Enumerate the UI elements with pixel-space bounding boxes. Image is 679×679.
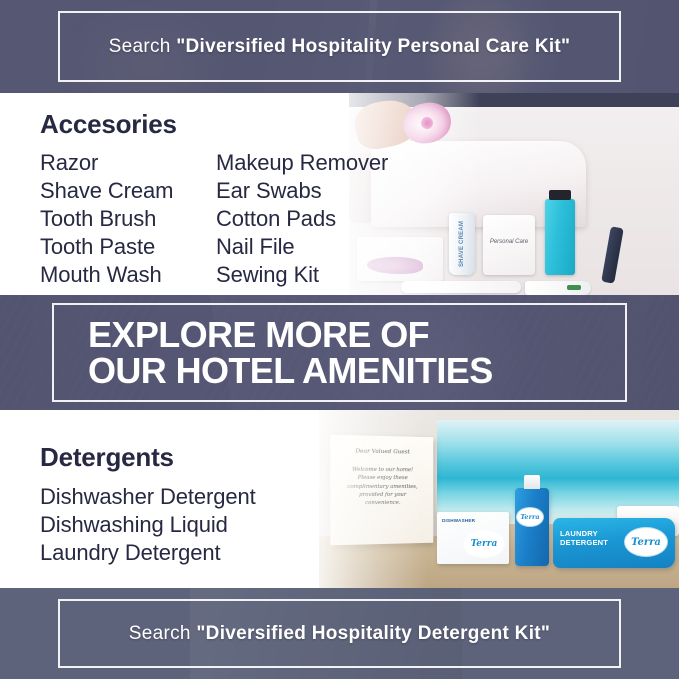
personal-care-kit-photo: [349, 93, 679, 295]
accessories-content: Accesories Razor Shave Cream Tooth Brush…: [0, 93, 388, 289]
guest-welcome-card: Dear Valued Guest Welcome to our home! P…: [330, 435, 433, 546]
headline-line-2: OUR HOTEL AMENITIES: [88, 353, 679, 388]
top-search-lead: Search: [109, 36, 177, 57]
card-line: complimentary amenities,: [337, 483, 426, 492]
terra-brand-logo: Terra: [464, 531, 504, 557]
dishwasher-detergent-packet: DISHWASHER Terra: [437, 512, 509, 564]
bottom-search-banner: Search "Diversified Hospitality Detergen…: [0, 588, 679, 679]
razor-product: [581, 221, 621, 283]
list-item: Dishwasher Detergent: [40, 483, 256, 511]
top-search-query: "Diversified Hospitality Personal Care K…: [176, 36, 570, 57]
laundry-label-line-2: DETERGENT: [560, 538, 608, 547]
laundry-label-line-1: LAUNDRY: [560, 529, 598, 538]
list-item: Makeup Remover: [216, 149, 388, 177]
top-search-text: Search "Diversified Hospitality Personal…: [109, 36, 571, 58]
terra-brand-logo: Terra: [625, 528, 667, 556]
list-item: Tooth Brush: [40, 205, 216, 233]
accessories-column-right: Makeup Remover Ear Swabs Cotton Pads Nai…: [216, 149, 388, 289]
detergents-content: Detergents Dishwasher Detergent Dishwash…: [0, 410, 256, 567]
mouthwash-bottle-product: [545, 199, 575, 275]
list-item: Shave Cream: [40, 177, 216, 205]
promo-image: Search "Diversified Hospitality Personal…: [0, 0, 679, 679]
dishwashing-liquid-bottle: Terra: [515, 488, 549, 566]
explore-more-banner: EXPLORE MORE OF OUR HOTEL AMENITIES: [0, 295, 679, 410]
detergent-kit-photo: Dear Valued Guest Welcome to our home! P…: [319, 410, 679, 588]
list-item: Cotton Pads: [216, 205, 388, 233]
card-line: convenience.: [337, 499, 426, 508]
list-item: Dishwashing Liquid: [40, 511, 256, 539]
terra-brand-logo: Terra: [517, 508, 543, 526]
toothpaste-tube-product: [525, 281, 591, 295]
card-line: Please enjoy these: [337, 474, 426, 483]
accessories-title: Accesories: [40, 109, 388, 140]
list-item: Laundry Detergent: [40, 539, 256, 567]
explore-more-headline: EXPLORE MORE OF OUR HOTEL AMENITIES: [0, 317, 679, 388]
list-item: Ear Swabs: [216, 177, 388, 205]
dishwasher-packet-label: DISHWASHER: [442, 518, 475, 523]
laundry-pouch-label: LAUNDRY DETERGENT: [560, 530, 608, 548]
card-salutation: Dear Valued Guest: [337, 447, 426, 458]
bottom-search-text: Search "Diversified Hospitality Detergen…: [129, 623, 550, 645]
bottom-search-lead: Search: [129, 623, 197, 644]
accessories-column-left: Razor Shave Cream Tooth Brush Tooth Past…: [40, 149, 216, 289]
accessories-columns: Razor Shave Cream Tooth Brush Tooth Past…: [40, 149, 388, 289]
list-item: Mouth Wash: [40, 261, 216, 289]
shave-cream-product: [449, 213, 475, 275]
list-item: Razor: [40, 149, 216, 177]
toothbrush-product: [401, 281, 521, 293]
detergents-title: Detergents: [40, 442, 256, 473]
list-item: Tooth Paste: [40, 233, 216, 261]
personal-care-soap-product: [483, 215, 535, 275]
top-search-banner: Search "Diversified Hospitality Personal…: [0, 0, 679, 93]
laundry-detergent-pouch: LAUNDRY DETERGENT Terra: [553, 518, 675, 568]
list-item: Nail File: [216, 233, 388, 261]
accessories-section: Accesories Razor Shave Cream Tooth Brush…: [0, 93, 679, 295]
list-item: Sewing Kit: [216, 261, 388, 289]
detergents-section: Dear Valued Guest Welcome to our home! P…: [0, 410, 679, 588]
bottom-search-query: "Diversified Hospitality Detergent Kit": [196, 623, 550, 644]
